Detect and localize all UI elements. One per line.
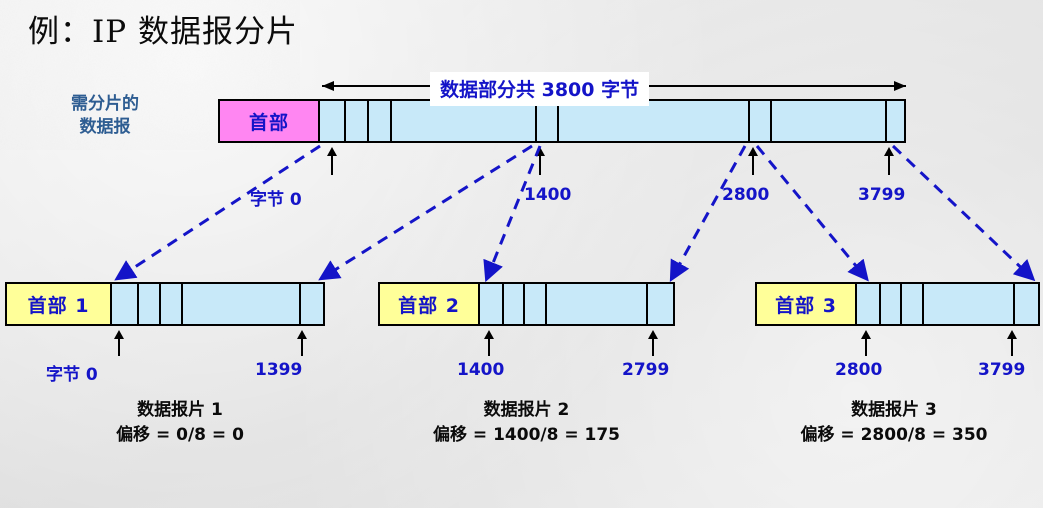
page-title: 例：IP 数据报分片 [28, 6, 298, 51]
fragment-1-end-label: 1399 [255, 360, 302, 380]
payload-span-arrowhead-right [894, 81, 906, 91]
fragment-2-divider-3 [545, 284, 547, 324]
fragment-1-caption-line2: 偏移 = 0/8 = 0 [35, 423, 325, 448]
original-divider-2 [367, 101, 369, 141]
fragment-2-end-line [652, 338, 654, 356]
original-divider-1 [344, 101, 346, 141]
fragment-3-start-line [865, 338, 867, 356]
fragment-2-divider-4 [646, 284, 648, 324]
fragment-3-caption: 数据报片 3 偏移 = 2800/8 = 350 [748, 398, 1040, 447]
fragment-1-start-line [118, 338, 120, 356]
original-datagram-label: 需分片的 数据报 [30, 93, 180, 139]
fragment-2-start-line [488, 338, 490, 356]
fragment-3-caption-line1: 数据报片 3 [748, 398, 1040, 423]
original-divider-6 [748, 101, 750, 141]
payload-span-arrowhead-left [322, 81, 334, 91]
original-tick-line-0 [331, 155, 333, 175]
original-divider-5 [557, 101, 559, 141]
fragment-1-caption-line1: 数据报片 1 [35, 398, 325, 423]
fragment-2-header-block: 首部 2 [380, 284, 480, 324]
original-tick-line-1 [539, 155, 541, 175]
fragment-2-end-label: 2799 [622, 360, 669, 380]
fragment-3-divider-2 [900, 284, 902, 324]
payload-span-label: 数据部分共 3800 字节 [430, 72, 649, 106]
fragment-2-divider-1 [502, 284, 504, 324]
original-divider-3 [390, 101, 392, 141]
fragment-1-bar: 首部 1 [5, 282, 325, 326]
fragment-1-divider-4 [299, 284, 301, 324]
fragment-1-header-block: 首部 1 [7, 284, 112, 324]
fragment-3-divider-3 [922, 284, 924, 324]
original-divider-8 [885, 101, 887, 141]
fragment-3-end-line [1011, 338, 1013, 356]
fragment-2-start-label: 1400 [457, 360, 504, 380]
fragment-1-caption: 数据报片 1 偏移 = 0/8 = 0 [35, 398, 325, 447]
fragment-2-caption: 数据报片 2 偏移 = 1400/8 = 175 [378, 398, 675, 447]
fragment-1-divider-2 [159, 284, 161, 324]
original-tick-label-0: 字节 0 [250, 185, 302, 210]
original-datagram-label-line1: 需分片的 [30, 93, 180, 116]
fragment-3-caption-line2: 偏移 = 2800/8 = 350 [748, 423, 1040, 448]
original-tick-label-3: 3799 [858, 185, 905, 205]
original-header-block: 首部 [220, 101, 320, 141]
fragment-3-bar: 首部 3 [755, 282, 1040, 326]
fragment-1-divider-3 [181, 284, 183, 324]
original-divider-7 [770, 101, 772, 141]
original-tick-label-2: 2800 [722, 185, 769, 205]
fragment-3-start-label: 2800 [835, 360, 882, 380]
original-datagram-label-line2: 数据报 [30, 116, 180, 139]
fragment-3-header-block: 首部 3 [757, 284, 857, 324]
original-divider-4 [535, 101, 537, 141]
fragment-3-divider-4 [1013, 284, 1015, 324]
original-tick-line-2 [752, 155, 754, 175]
fragment-1-start-label: 字节 0 [46, 360, 98, 385]
fragment-2-divider-2 [523, 284, 525, 324]
fragment-3-end-label: 3799 [978, 360, 1025, 380]
fragment-2-caption-line2: 偏移 = 1400/8 = 175 [378, 423, 675, 448]
fragment-3-divider-1 [879, 284, 881, 324]
fragment-1-end-line [301, 338, 303, 356]
fragment-2-caption-line1: 数据报片 2 [378, 398, 675, 423]
fragment-1-divider-1 [137, 284, 139, 324]
original-tick-line-3 [888, 155, 890, 175]
fragment-2-bar: 首部 2 [378, 282, 675, 326]
original-tick-label-1: 1400 [524, 185, 571, 205]
